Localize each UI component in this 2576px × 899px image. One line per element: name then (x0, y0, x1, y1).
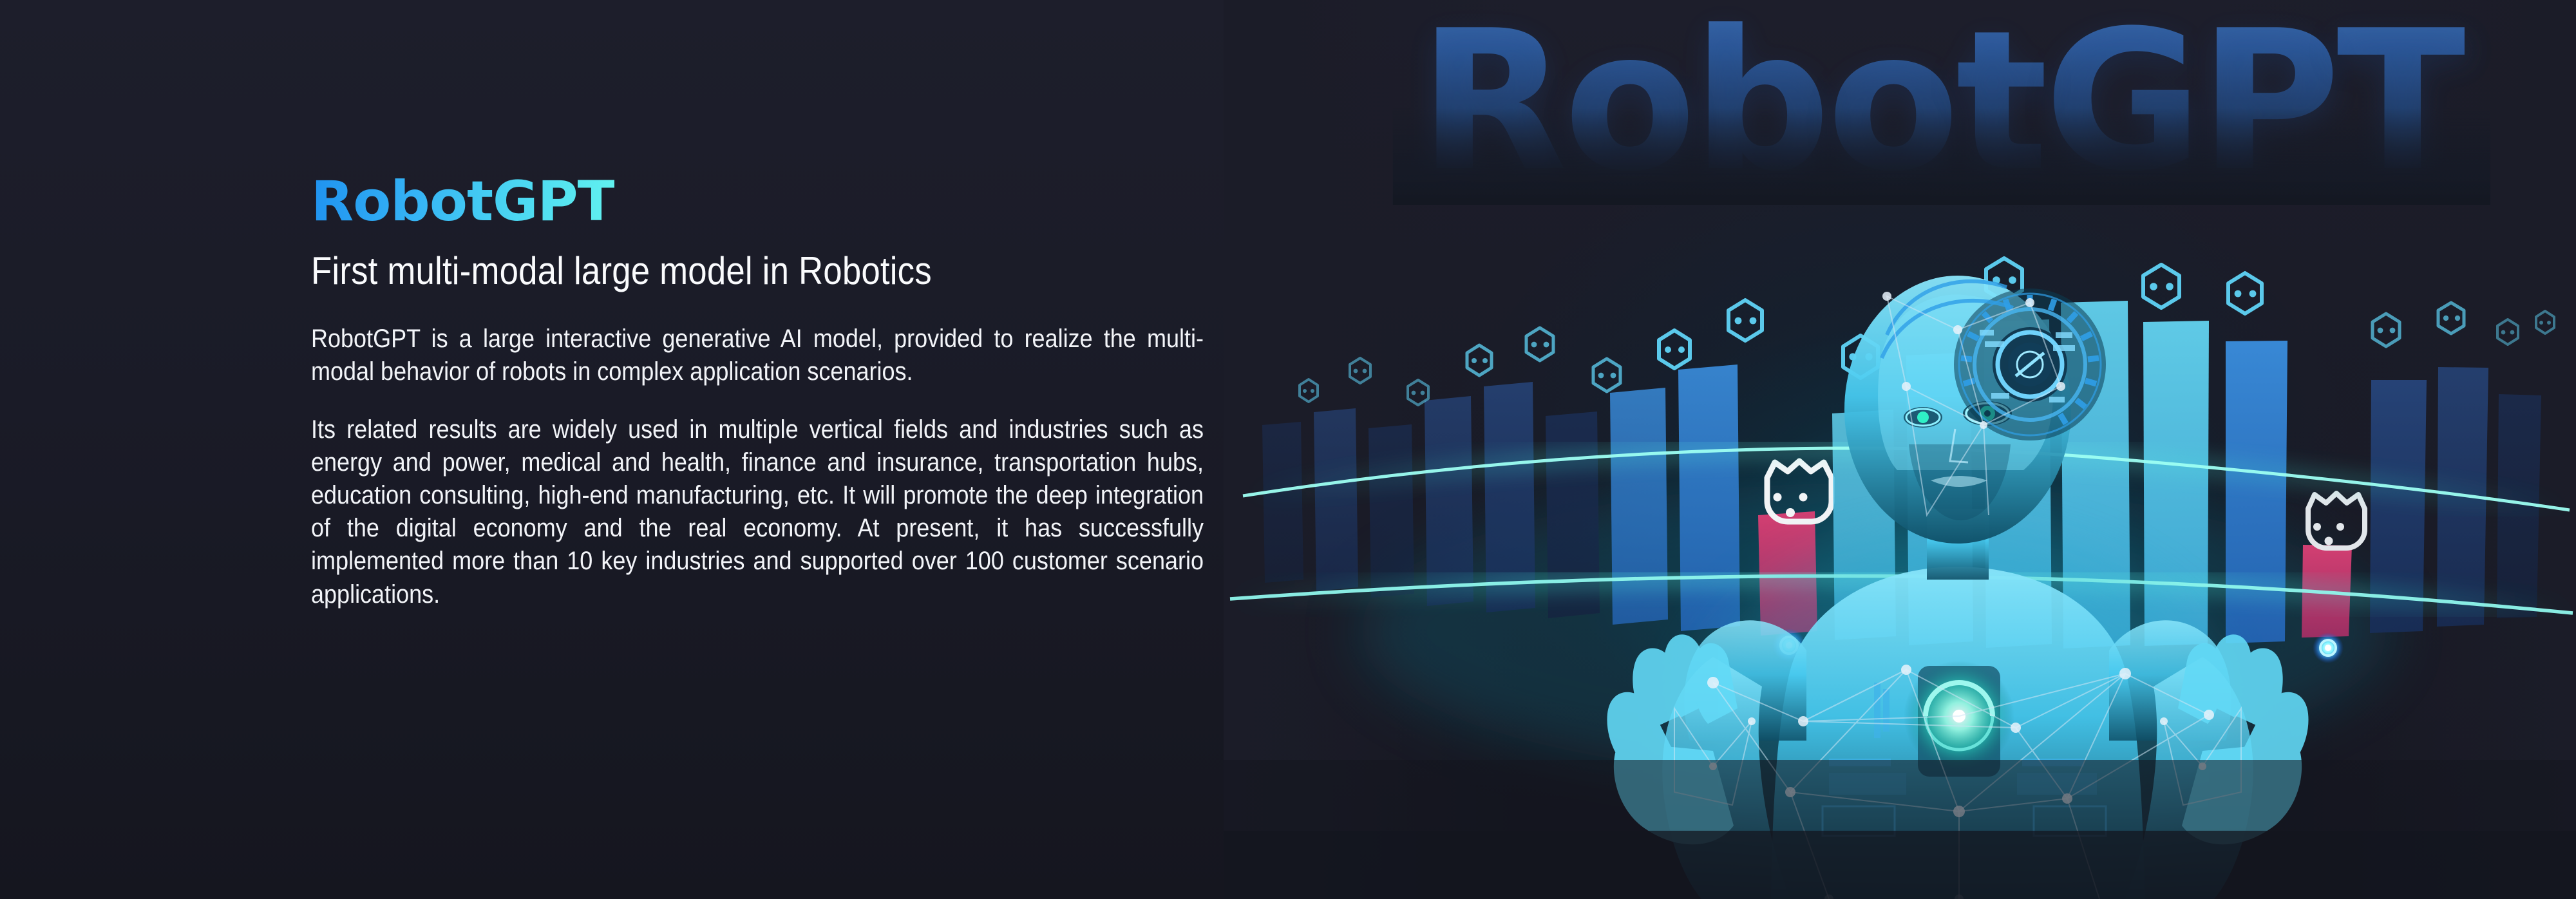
robot-illustration (1224, 0, 2576, 899)
brand-title: RobotGPT (311, 173, 614, 231)
hero-banner: RobotGPT (0, 0, 2576, 899)
hero-paragraph-2: Its related results are widely used in m… (311, 413, 1204, 611)
bar (1425, 396, 1473, 606)
hero-paragraph-1: RobotGPT is a large interactive generati… (311, 323, 1204, 388)
bar (1678, 364, 1740, 631)
bar (1368, 424, 1414, 598)
head-tech-disc (1954, 289, 2106, 440)
hero-copy: RobotGPT First multi-modal large model i… (311, 173, 1206, 611)
robot-head-icon-white (2308, 493, 2365, 548)
bar (1262, 422, 1303, 583)
hero-tagline: First multi-modal large model in Robotic… (311, 249, 1099, 293)
bar (2226, 341, 2287, 643)
bar (1610, 388, 1668, 625)
robot-artwork: RobotGPT (1224, 0, 2576, 899)
bar (1314, 408, 1358, 591)
